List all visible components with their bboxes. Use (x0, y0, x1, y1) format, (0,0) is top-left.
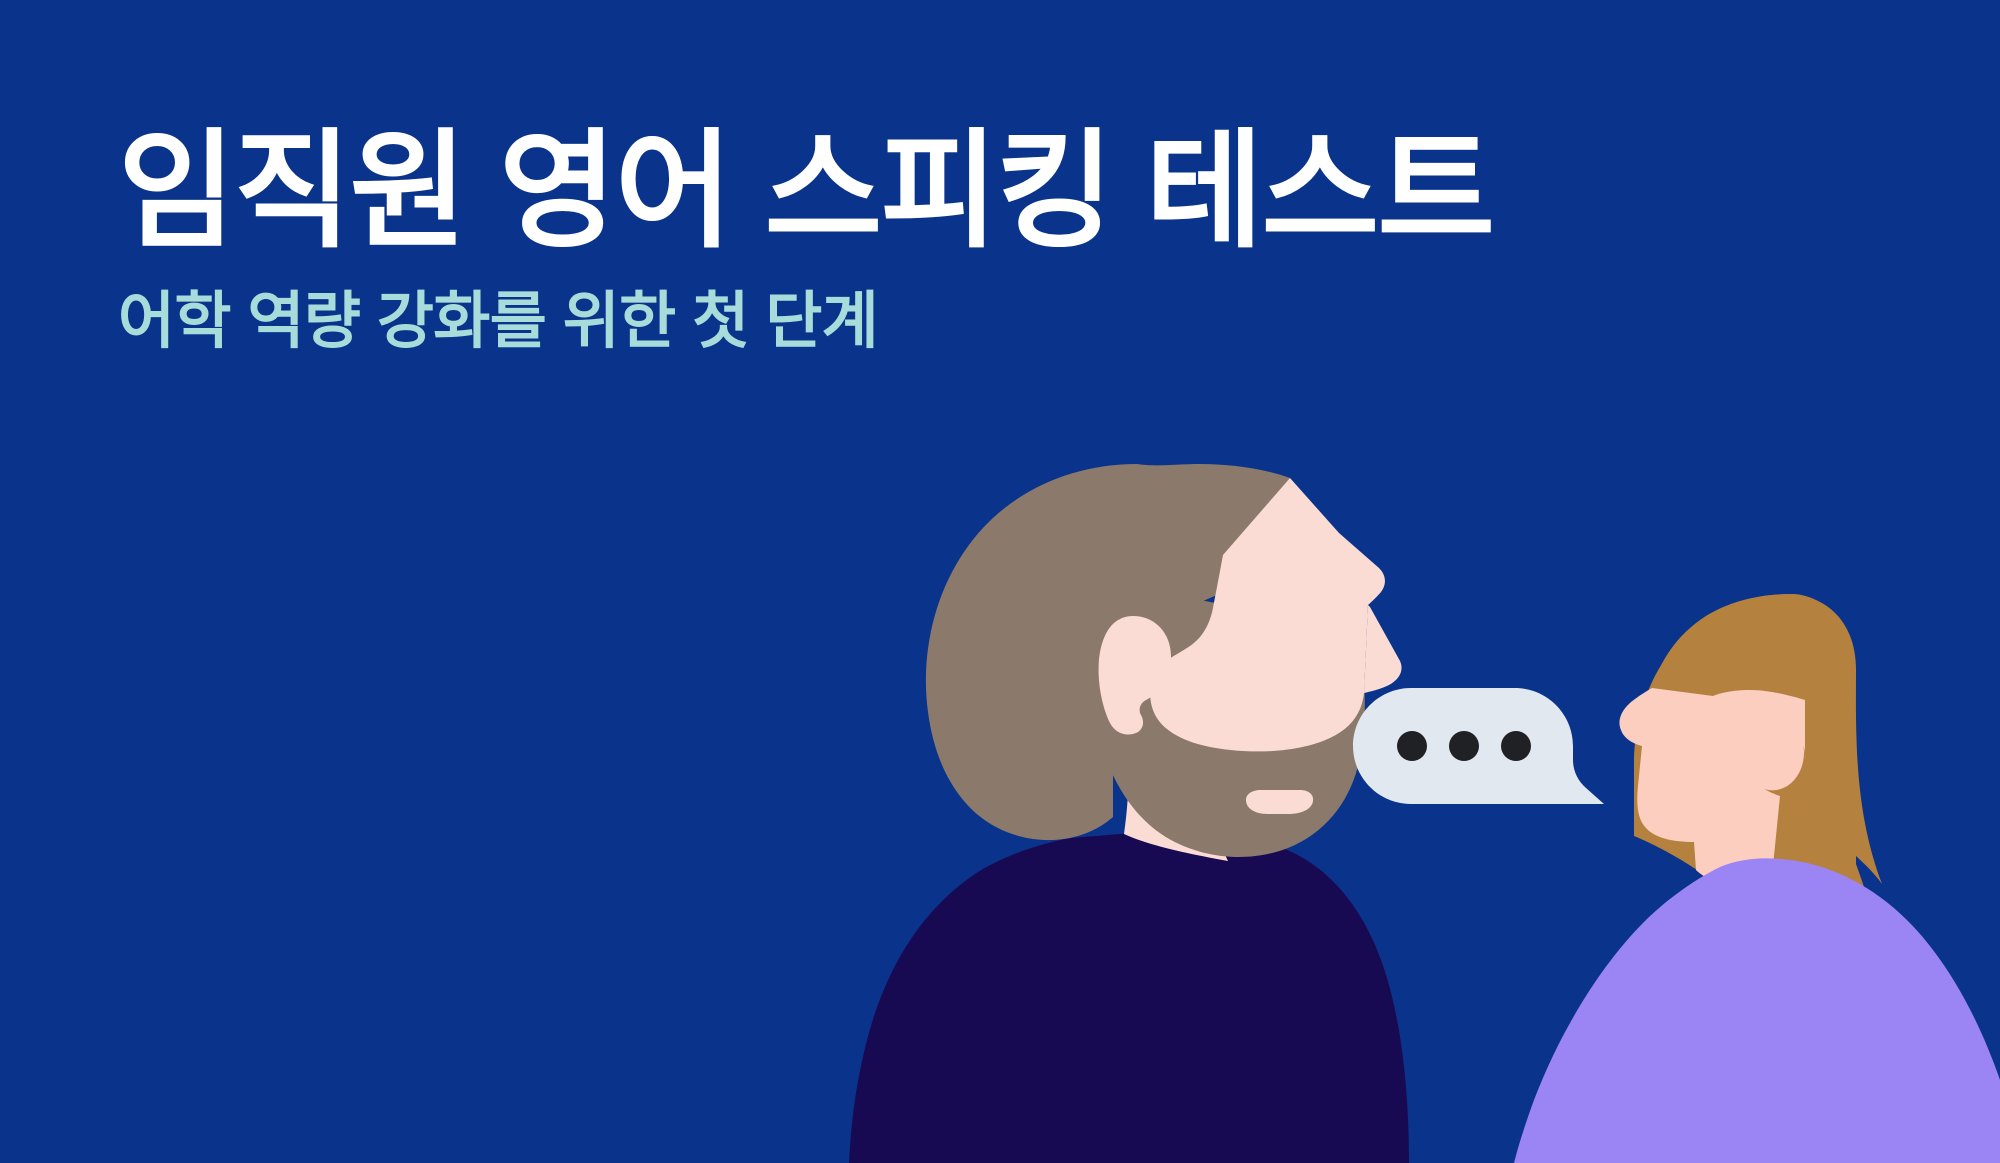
man-sweater-body (849, 829, 1409, 1163)
page-subtitle: 어학 역량 강화를 위한 첫 단계 (118, 285, 1418, 359)
speech-bubble-icon (1353, 688, 1604, 804)
speech-dot-2 (1449, 731, 1479, 761)
banner-root: 임직원 영어 스피킹 테스트 어학 역량 강화를 위한 첫 단계 (0, 0, 2000, 1163)
man-figure (849, 464, 1409, 1163)
headline-block: 임직원 영어 스피킹 테스트 어학 역량 강화를 위한 첫 단계 (118, 120, 1418, 360)
page-title: 임직원 영어 스피킹 테스트 (118, 120, 1418, 263)
speech-dot-1 (1397, 731, 1427, 761)
man-mouth (1246, 790, 1313, 814)
woman-figure (1514, 594, 2000, 1163)
speech-dot-3 (1501, 731, 1531, 761)
man-nose (1364, 605, 1402, 693)
woman-sweater-body (1514, 858, 2000, 1163)
